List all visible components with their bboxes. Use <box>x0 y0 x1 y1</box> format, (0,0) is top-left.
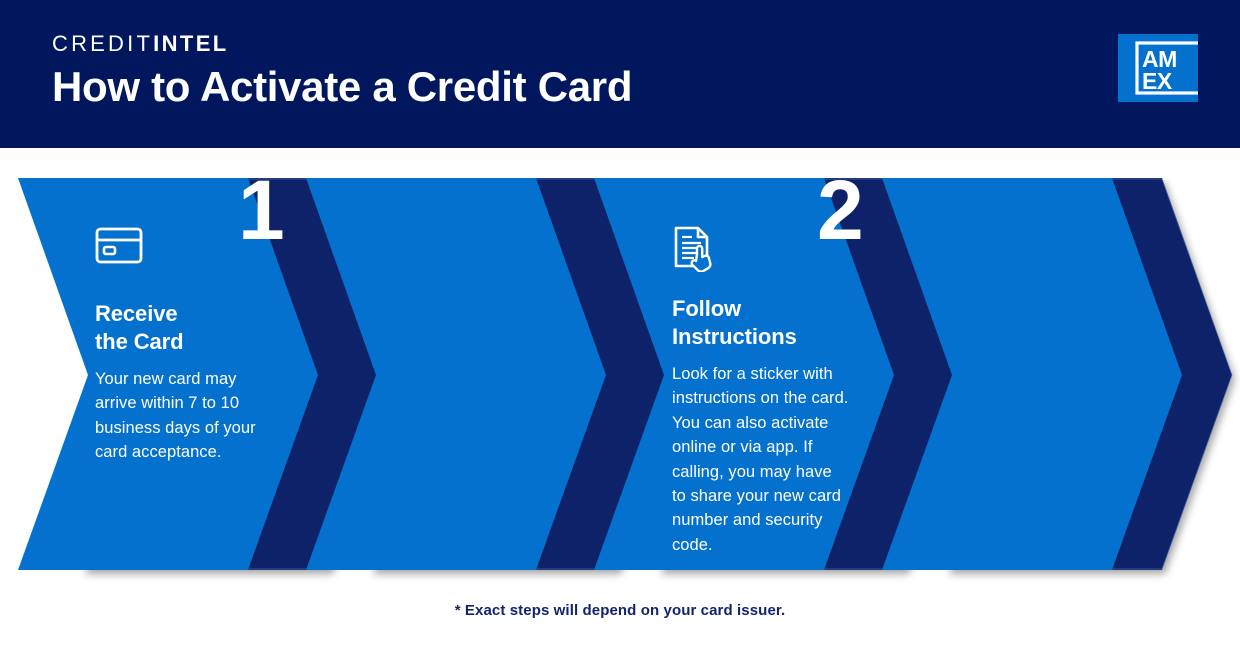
amex-logo-mark: AM EX <box>1118 34 1198 102</box>
credit-card-icon <box>95 226 143 266</box>
footnote-disclaimer: * Exact steps will depend on your card i… <box>0 602 1240 619</box>
step-3[interactable]: 3 Await Confirmation You'll receive an a… <box>578 178 878 570</box>
infographic-root: CREDITINTEL How to Activate a Credit Car… <box>0 0 1240 654</box>
step-1-title: Receive the Card <box>95 300 275 356</box>
brand-credit-text: CREDIT <box>52 31 153 56</box>
step-1-title-line2: the Card <box>95 328 275 356</box>
steps-band: 1 Receive the Card Your new card may arr… <box>0 178 1240 586</box>
header-bar: CREDITINTEL How to Activate a Credit Car… <box>0 0 1240 148</box>
step-1-number: 1 <box>238 168 283 252</box>
svg-text:EX: EX <box>1142 68 1173 94</box>
step-2[interactable]: 2 Follow Instructions Look for a sticker… <box>290 178 590 570</box>
page-title: How to Activate a Credit Card <box>52 63 632 111</box>
step-1[interactable]: 1 Receive the Card Your new card may arr… <box>0 178 300 570</box>
step-1-title-line1: Receive <box>95 300 275 328</box>
step-1-body: Your new card may arrive within 7 to 10 … <box>95 367 275 465</box>
amex-logo: AM EX <box>1118 34 1198 102</box>
brand-lockup: CREDITINTEL <box>52 33 229 55</box>
brand-intel-text: INTEL <box>153 31 229 56</box>
step-4[interactable]: 4 Test Out Your New Card Try making a pu… <box>866 178 1186 570</box>
